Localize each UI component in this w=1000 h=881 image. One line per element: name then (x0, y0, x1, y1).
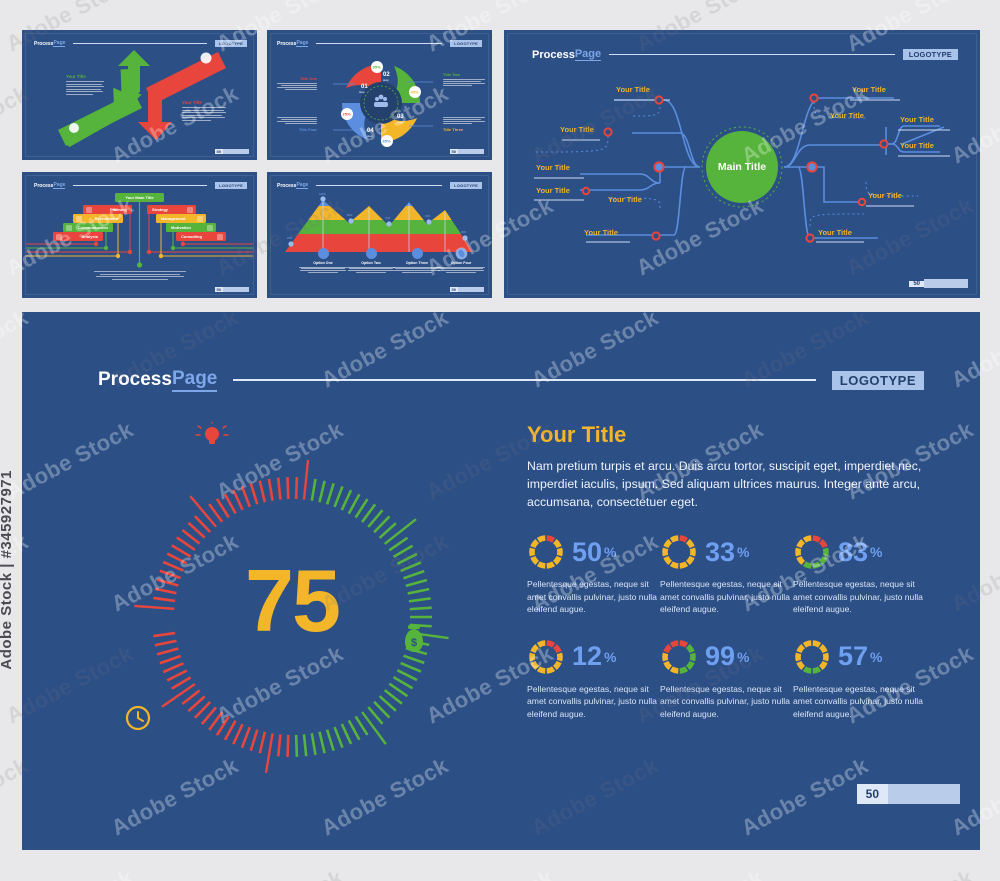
gauge-tick (225, 494, 236, 513)
mindmap-node-l5[interactable]: Your Title (608, 195, 642, 204)
page-number: 50 (215, 149, 223, 154)
donut-segment (821, 542, 825, 548)
page-number: 50 (450, 287, 458, 292)
anchor-icon (456, 248, 467, 259)
header-word-process: Process (277, 183, 296, 189)
title-one-lines (277, 83, 317, 90)
mountain-option-0[interactable]: Option One (299, 248, 347, 273)
option-body-lines (393, 267, 441, 274)
donut-segment (688, 542, 692, 548)
gauge-tick (162, 684, 195, 707)
title-four-lines (277, 117, 317, 124)
donut-segment (821, 646, 825, 652)
stat-row: 83% (793, 533, 926, 571)
svg-text:20%: 20% (287, 236, 293, 240)
page-number: 50 (857, 784, 888, 804)
slide1-red-text: Your Title (182, 100, 226, 121)
donut-segment (547, 643, 554, 645)
mindmap-node-r1[interactable]: Your Title (852, 85, 886, 94)
donut-segment (671, 669, 678, 671)
gauge-tick (312, 733, 316, 755)
option-body-lines (299, 267, 347, 274)
title-three: Title Three (443, 127, 485, 132)
segment-03-pct: 45% (411, 90, 419, 95)
clock-icon (127, 707, 149, 729)
slide2-header: Process Page LOGOTYPE (277, 40, 482, 47)
gauge-tick (260, 732, 265, 753)
gauge-tick (163, 663, 183, 672)
main-slide-header: Process Page LOGOTYPE (98, 368, 924, 392)
header-rule (316, 43, 442, 44)
watermark-text: Adobe Stock (2, 865, 138, 881)
donut-segment (813, 539, 820, 541)
stat-description: Pellentesque egestas, neque sit amet con… (793, 578, 926, 615)
page-bar (223, 287, 249, 292)
title-one: Title One (277, 76, 317, 81)
option-label: Option Two (347, 261, 395, 265)
stat-description: Pellentesque egestas, neque sit amet con… (660, 683, 793, 720)
slide-thumbnail-mountains[interactable]: Process Page LOGOTYPE (267, 172, 492, 298)
slide4-page-badge: 50 (215, 287, 249, 292)
stat-value: 12 (572, 643, 602, 670)
donut-segment (538, 643, 545, 645)
donut-chart (660, 638, 698, 676)
header-word-process: Process (98, 369, 172, 391)
stat-value: 33 (705, 539, 735, 566)
mountain-option-3[interactable]: Option Four (437, 248, 485, 273)
percent-symbol: % (870, 544, 882, 560)
logotype-badge: LOGOTYPE (450, 40, 482, 47)
donut-segment (799, 558, 803, 564)
percent-symbol: % (870, 649, 882, 665)
planning-icon (86, 207, 92, 213)
svg-text:40%: 40% (461, 230, 467, 234)
slide-deck-sheet: Process Page LOGOTYPE Your Title (22, 30, 980, 850)
option-label: Option Three (393, 261, 441, 265)
svg-text:100%: 100% (319, 192, 326, 196)
gauge-tick (233, 724, 242, 744)
donut-segment (799, 662, 803, 668)
slide5-header: Process Page LOGOTYPE (277, 182, 482, 189)
donut-segment (804, 539, 811, 541)
pinwheel-svg: 01 step 02 step 03 step 04 step 25% 95% … (321, 52, 441, 154)
gauge-tick (251, 483, 257, 504)
segment-04-sub: step (367, 134, 373, 138)
slide-thumbnail-arrows[interactable]: Process Page LOGOTYPE Your Title (22, 30, 257, 160)
gauge-tick (260, 481, 265, 502)
gauge-tick (312, 479, 316, 501)
slide1-green-text: Your Title (66, 74, 104, 95)
lightbulb-icon (196, 422, 228, 444)
stat-row: 33% (660, 533, 793, 571)
band-green (277, 220, 482, 234)
percent-symbol: % (604, 544, 616, 560)
mindmap-node-l6[interactable]: Your Title (584, 228, 618, 237)
arrows-svg (22, 30, 257, 160)
page-number: 50 (215, 287, 223, 292)
stat-description: Pellentesque egestas, neque sit amet con… (527, 683, 660, 720)
stat-value: 57 (838, 643, 868, 670)
lightbulb-icon (201, 53, 212, 64)
gauge-tick (320, 732, 325, 753)
red-option-title: Your Title (182, 100, 226, 105)
donut-chart (793, 533, 831, 571)
pinwheel-label-three: Title Three (443, 116, 485, 134)
donut-segment (538, 669, 545, 671)
option-label: Option One (299, 261, 347, 265)
donut-segment (538, 539, 545, 541)
mindmap-node-l2[interactable]: Your Title (560, 125, 594, 134)
donut-segment (688, 662, 692, 668)
donut-segment (680, 539, 687, 541)
gauge-tick (242, 486, 250, 507)
gauge-tick (397, 670, 417, 680)
stat-description: Pellentesque egestas, neque sit amet con… (527, 578, 660, 615)
slide5-page-badge: 50 (450, 287, 484, 292)
watermark-text: Adobe Stock (422, 865, 558, 881)
gauge-tick (296, 477, 297, 499)
gauge-tick (278, 734, 280, 756)
slide-thumbnail-mindmap[interactable]: Process Page LOGOTYPE (504, 30, 980, 298)
donut-segment (666, 558, 670, 564)
page-number: 50 (909, 281, 924, 287)
donut-segment (671, 564, 678, 566)
watermark-text: Adobe Stock (632, 865, 768, 881)
gauge-tick (172, 677, 191, 688)
logotype-badge: LOGOTYPE (450, 182, 482, 189)
gauge-tick (401, 663, 421, 672)
svg-text:60%: 60% (425, 214, 431, 218)
mindmap-node-r3[interactable]: Your Title (900, 115, 934, 124)
pinwheel-label-two: Title Two (443, 72, 485, 86)
donut-segment (821, 662, 825, 668)
gauge-tick (335, 727, 343, 748)
option-label: Option Four (437, 261, 485, 265)
header-word-page: Page (172, 368, 217, 392)
logotype-badge: LOGOTYPE (832, 371, 924, 390)
donut-segment (804, 643, 811, 645)
main-slide-content-pane: Your Title Nam pretium turpis et arcu. D… (527, 422, 927, 742)
green-option-title: Your Title (66, 74, 104, 79)
communication-icon (66, 225, 72, 231)
gauge-tick (269, 479, 273, 501)
segment-02-sub: step (383, 78, 389, 82)
donut-segment (688, 646, 692, 652)
svg-text:70%: 70% (385, 216, 391, 220)
content-title: Your Title (527, 422, 927, 448)
title-three-lines (443, 117, 485, 124)
donut-segment (533, 558, 537, 564)
donut-chart (660, 533, 698, 571)
adobe-stock-id-watermark: Adobe Stock | #345927971 (0, 470, 15, 670)
donut-segment (666, 542, 670, 548)
stat-description: Pellentesque egestas, neque sit amet con… (793, 683, 926, 720)
page-bar (223, 149, 249, 154)
donut-segment (555, 662, 559, 668)
stat-item-5[interactable]: 57%Pellentesque egestas, neque sit amet … (793, 638, 926, 720)
center-label: Main Title (718, 161, 766, 173)
donut-segment (533, 646, 537, 652)
stat-item-3[interactable]: 12%Pellentesque egestas, neque sit amet … (527, 638, 660, 720)
stats-grid: 50%Pellentesque egestas, neque sit amet … (527, 533, 927, 742)
radial-gauge: $ 75 (82, 422, 502, 812)
strategy-icon (187, 207, 193, 213)
mindmap-node-r4[interactable]: Your Title (900, 141, 934, 150)
mindmap-svg: Main Title (504, 30, 980, 298)
folder-icon (412, 248, 423, 259)
gauge-tick (335, 486, 343, 507)
gauge-tick (217, 499, 229, 518)
title-two: Title Two (443, 72, 485, 77)
stat-row: 12% (527, 638, 660, 676)
page-number: 50 (450, 149, 458, 154)
option-body-lines (437, 267, 485, 274)
consulting-icon (217, 234, 223, 240)
management-icon (197, 216, 203, 222)
gauge-tick (296, 735, 297, 757)
gauge-tick (304, 734, 306, 756)
donut-segment (813, 564, 820, 566)
pinwheel-label-four: Title Four (277, 116, 317, 134)
donut-segment (538, 564, 545, 566)
donut-chart (527, 638, 565, 676)
gauge-value: 75 (82, 550, 502, 652)
gauge-tick (389, 538, 407, 550)
slide2-page-badge: 50 (450, 149, 484, 154)
gauge-tick (190, 496, 216, 527)
gauge-tick (385, 519, 416, 544)
stat-item-1[interactable]: 33%Pellentesque egestas, neque sit amet … (660, 533, 793, 615)
donut-segment (666, 646, 670, 652)
orgchart-main-title[interactable]: Your Main Title (115, 193, 164, 202)
main-slide-page-badge: 50 (857, 784, 960, 804)
stat-row: 99% (660, 638, 793, 676)
gauge-tick (217, 717, 229, 736)
title-two-lines (443, 79, 485, 86)
stat-row: 57% (793, 638, 926, 676)
donut-segment (680, 643, 687, 645)
page-bar (458, 149, 484, 154)
donut-segment (680, 669, 687, 671)
donut-segment (804, 669, 811, 671)
donut-segment (547, 669, 554, 671)
gauge-tick (320, 481, 325, 502)
header-word-page: Page (296, 40, 308, 47)
gauge-tick (242, 727, 250, 748)
donut-segment (680, 564, 687, 566)
content-paragraph: Nam pretium turpis et arcu. Duis arcu to… (527, 458, 927, 511)
donut-segment (799, 542, 803, 548)
mindmap-node-r5[interactable]: Your Title (868, 191, 902, 200)
gauge-tick (167, 670, 187, 680)
segment-02-pct: 95% (373, 65, 381, 70)
mindmap-node-l1[interactable]: Your Title (616, 85, 650, 94)
segment-04-pct: 65% (383, 139, 391, 144)
red-option-body-lines (182, 107, 226, 121)
page-bar (924, 279, 968, 288)
pinwheel-label-one: Title One (277, 76, 317, 90)
donut-segment (547, 564, 554, 566)
stat-item-4[interactable]: 99%Pellentesque egestas, neque sit amet … (660, 638, 793, 720)
mountain-chart-svg: 100%80%70% 60%40%20% (277, 190, 482, 252)
gauge-tick (342, 724, 351, 744)
title-four: Title Four (277, 127, 317, 132)
watermark-text: Adobe Stock (212, 865, 348, 881)
recruitment-icon (76, 216, 82, 222)
donut-segment (547, 539, 554, 541)
main-slide-gauge-stats[interactable]: Process Page LOGOTYPE (22, 312, 980, 850)
watermark-text: Adobe Stock (842, 865, 978, 881)
percent-symbol: % (737, 544, 749, 560)
stat-description: Pellentesque egestas, neque sit amet con… (660, 578, 793, 615)
donut-segment (555, 558, 559, 564)
gauge-tick (251, 730, 257, 751)
gauge-tick (349, 494, 360, 513)
segment-03-sub: step (397, 120, 403, 124)
motivation-icon (207, 225, 213, 231)
lightbulb-icon (318, 248, 329, 259)
gauge-tick (288, 477, 289, 499)
segment-01-pct: 25% (343, 112, 351, 117)
gauge-tick (304, 460, 308, 500)
mindmap-node-r2[interactable]: Your Title (830, 111, 864, 120)
green-arrow-body (58, 92, 142, 146)
stat-value: 83 (838, 539, 868, 566)
mindmap-node-l3[interactable]: Your Title (536, 163, 570, 172)
gauge-tick (349, 720, 360, 739)
gauge-tick (266, 733, 273, 772)
gauge-tick (356, 716, 368, 735)
donut-segment (666, 662, 670, 668)
orgchart-footer-lines (94, 271, 186, 280)
lock-icon (69, 123, 79, 133)
percent-symbol: % (737, 649, 749, 665)
donut-segment (799, 646, 803, 652)
donut-segment (533, 542, 537, 548)
donut-segment (555, 542, 559, 548)
header-word-page: Page (296, 182, 308, 189)
gauge-tick (327, 730, 334, 751)
stat-value: 50 (572, 539, 602, 566)
donut-chart (527, 533, 565, 571)
gauge-tick (278, 478, 280, 500)
gauge-tick (288, 735, 289, 757)
segment-01-sub: step (359, 90, 365, 94)
donut-segment (555, 646, 559, 652)
header-word-process: Process (277, 41, 296, 47)
donut-chart (793, 638, 831, 676)
page-bar (888, 784, 960, 804)
gauge-tick (394, 677, 413, 688)
gauge-tick (403, 656, 424, 663)
slide-thumbnail-orgchart[interactable]: Process Page LOGOTYPE (22, 172, 257, 298)
percent-symbol: % (604, 649, 616, 665)
gauge-tick (362, 712, 386, 744)
band-yellow (277, 206, 482, 220)
donut-segment (813, 643, 820, 645)
donut-segment (821, 558, 825, 564)
gauge-tick (342, 490, 351, 510)
stat-row: 50% (527, 533, 660, 571)
gauge-tick (225, 721, 236, 740)
gauge-tick (356, 499, 368, 518)
mindmap-branches-left (580, 100, 700, 235)
slide1-page-badge: 50 (215, 149, 249, 154)
donut-segment (671, 539, 678, 541)
analysis-icon (56, 234, 62, 240)
header-rule (233, 379, 815, 381)
mountain-option-2[interactable]: Option Three (393, 248, 441, 273)
mountain-bands (277, 190, 482, 252)
donut-segment (671, 643, 678, 645)
donut-segment (688, 558, 692, 564)
page-bar (458, 287, 484, 292)
arrows-graphic (22, 30, 257, 160)
stat-value: 99 (705, 643, 735, 670)
donut-segment (804, 564, 811, 566)
mindmap-node-r6[interactable]: Your Title (818, 228, 852, 237)
option-body-lines (347, 267, 395, 274)
stat-item-0[interactable]: 50%Pellentesque egestas, neque sit amet … (527, 533, 660, 615)
slide3-page-badge: 50 (909, 279, 968, 288)
gauge-tick (233, 490, 242, 510)
slide-thumbnail-pinwheel[interactable]: Process Page LOGOTYPE 01 step 02 step (267, 30, 492, 160)
green-option-body-lines (66, 81, 104, 95)
stat-item-2[interactable]: 83%Pellentesque egestas, neque sit amet … (793, 533, 926, 615)
mountain-option-1[interactable]: Option Two (347, 248, 395, 273)
band-blue (277, 190, 482, 206)
mindmap-node-l4[interactable]: Your Title (536, 186, 570, 195)
donut-segment (533, 662, 537, 668)
lock-icon (366, 248, 377, 259)
svg-text:80%: 80% (347, 213, 353, 217)
header-rule (316, 185, 442, 186)
donut-segment (813, 669, 820, 671)
gauge-tick (160, 656, 181, 663)
gauge-tick (327, 483, 334, 504)
